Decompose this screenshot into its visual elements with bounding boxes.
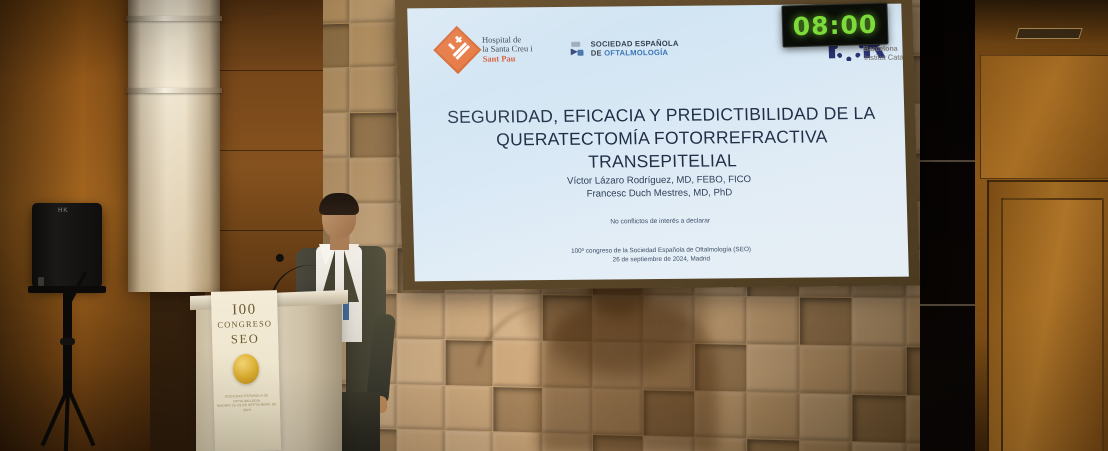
ceiling-vent bbox=[1015, 28, 1083, 39]
hospital-sant-pau-logo: Hospital de la Santa Creu i Sant Pau bbox=[440, 32, 533, 67]
seo-line-2-accent: OFTALMOLOGÍA bbox=[604, 48, 668, 58]
congress-medal-icon bbox=[233, 354, 260, 385]
tripod-adjust-knob[interactable] bbox=[60, 338, 75, 345]
pa-speaker-brand: HK bbox=[58, 208, 69, 214]
lectern-congress-word: CONGRESO bbox=[212, 317, 278, 332]
seo-logo-text: SOCIEDAD ESPAÑOLA DE OFTALMOLOGÍA bbox=[590, 38, 679, 58]
countdown-timer-display: 08:00 bbox=[781, 2, 888, 47]
lectern-congress-sign: I00 CONGRESO SEO SOCIEDAD ESPAÑOLA DE OF… bbox=[211, 290, 281, 451]
sociedad-espanola-oftalmologia-logo: SOCIEDAD ESPAÑOLA DE OFTALMOLOGÍA bbox=[570, 38, 679, 58]
lectern-org-abbrev: SEO bbox=[212, 330, 278, 348]
lectern-congress-number: I00 bbox=[211, 301, 277, 319]
icr-subtitle: Barcelona Institut Català de Retina bbox=[864, 45, 909, 62]
hospital-line-3: Sant Pau bbox=[482, 54, 533, 64]
conference-photo: Hospital de la Santa Creu i Sant Pau SOC… bbox=[0, 0, 1108, 451]
right-dark-wall bbox=[920, 0, 978, 451]
slide-congress-info: 100º congreso de la Sociedad Española de… bbox=[414, 244, 909, 267]
sant-pau-crest-icon bbox=[433, 26, 481, 74]
architectural-column bbox=[128, 0, 220, 292]
speaker-tripod-pole bbox=[63, 286, 72, 396]
hair bbox=[319, 193, 359, 215]
hospital-logo-text: Hospital de la Santa Creu i Sant Pau bbox=[482, 35, 533, 64]
pa-speaker: HK bbox=[32, 203, 102, 288]
seo-emblem-icon bbox=[570, 41, 585, 56]
lectern-fine-print-line-2: MADRID 26-29 DE SEPTIEMBRE DE 2024 bbox=[214, 402, 280, 413]
wooden-doors[interactable] bbox=[975, 0, 1108, 451]
lectern-fine-print: SOCIEDAD ESPAÑOLA DE OFTALMOLOGÍA MADRID… bbox=[214, 393, 280, 413]
slide-title: SEGURIDAD, EFICACIA Y PREDICTIBILIDAD DE… bbox=[432, 102, 892, 175]
icr-full-name: Institut Català de Retina bbox=[864, 52, 909, 62]
slide-authors: Víctor Lázaro Rodríguez, MD, FEBO, FICO … bbox=[412, 172, 907, 203]
door-transom-panel bbox=[980, 55, 1108, 179]
pa-speaker-indicator bbox=[38, 277, 44, 286]
seo-line-2-prefix: DE bbox=[591, 49, 605, 58]
door-panel[interactable] bbox=[987, 180, 1108, 451]
slide-disclosure: No conflictos de interés a declarar bbox=[413, 216, 907, 228]
timer-value: 08:00 bbox=[792, 9, 877, 40]
lanyard-badge bbox=[343, 302, 349, 320]
